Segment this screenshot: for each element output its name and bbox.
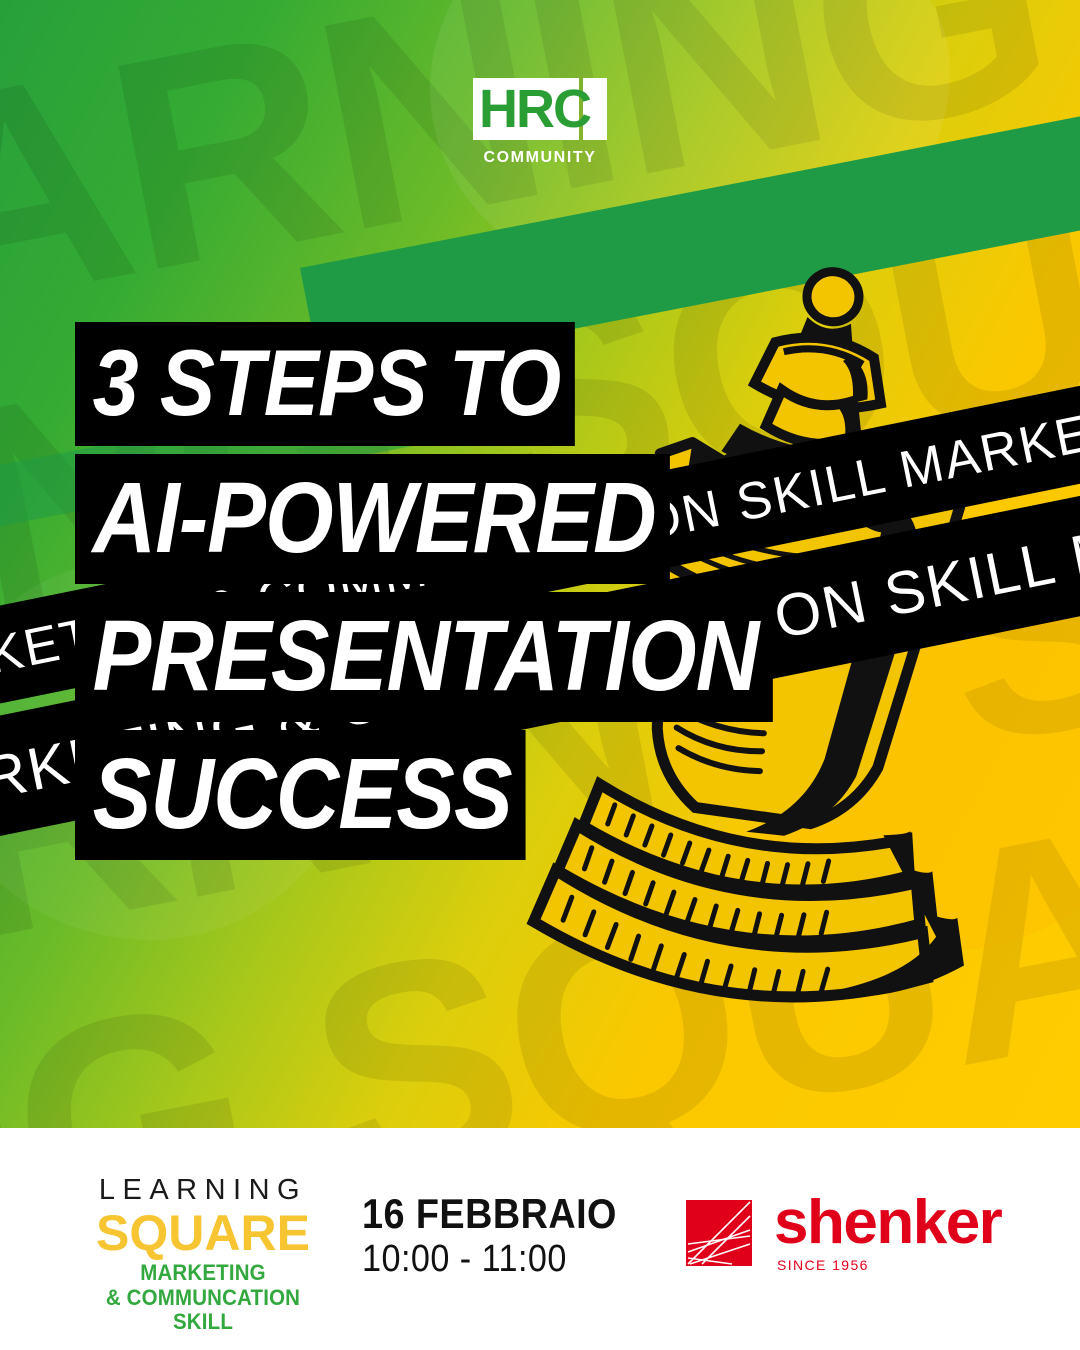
hrc-logo-letters: HRC bbox=[479, 79, 590, 139]
headline-line-2: AI-POWERED bbox=[75, 454, 670, 584]
poster-artwork: LEARNING SQUARE RNING SQUARE LEA ARNING … bbox=[0, 0, 1080, 1128]
headline-line-3: PRESENTATION bbox=[75, 592, 772, 722]
hrc-logo-subtitle: COMMUNITY bbox=[470, 149, 610, 167]
headline: 3 STEPS TO AI-POWERED PRESENTATION SUCCE… bbox=[75, 322, 868, 868]
hrc-logo-mark: HRC bbox=[473, 78, 607, 140]
learning-square-tagline-1: MARKETING bbox=[96, 1261, 310, 1286]
event-datetime: 16 FEBBRAIO 10:00 - 11:00 bbox=[362, 1190, 645, 1283]
poster-footer: LEARNING SQUARE MARKETING & COMMUNCATION… bbox=[0, 1128, 1080, 1350]
event-time: 10:00 - 11:00 bbox=[362, 1237, 617, 1283]
learning-square-tagline-2: & COMMUNCATION SKILL bbox=[96, 1286, 310, 1335]
hrc-community-logo: HRC COMMUNITY bbox=[470, 78, 610, 167]
learning-square-logo: LEARNING SQUARE MARKETING & COMMUNCATION… bbox=[88, 1176, 318, 1335]
headline-line-4: SUCCESS bbox=[75, 730, 526, 860]
shenker-wordmark: shenker SINCE 1956 bbox=[774, 1194, 1001, 1273]
shenker-since: SINCE 1956 bbox=[777, 1257, 1001, 1273]
shenker-logo-mark bbox=[686, 1200, 752, 1266]
learning-square-word-top: LEARNING bbox=[88, 1176, 318, 1205]
headline-line-1: 3 STEPS TO bbox=[75, 322, 574, 446]
shenker-logo: shenker SINCE 1956 bbox=[686, 1200, 1001, 1273]
learning-square-word-main: SQUARE bbox=[88, 1205, 318, 1261]
event-date: 16 FEBBRAIO bbox=[362, 1190, 617, 1237]
promotional-poster: LEARNING SQUARE RNING SQUARE LEA ARNING … bbox=[0, 0, 1080, 1350]
shenker-name: shenker bbox=[774, 1194, 1001, 1253]
